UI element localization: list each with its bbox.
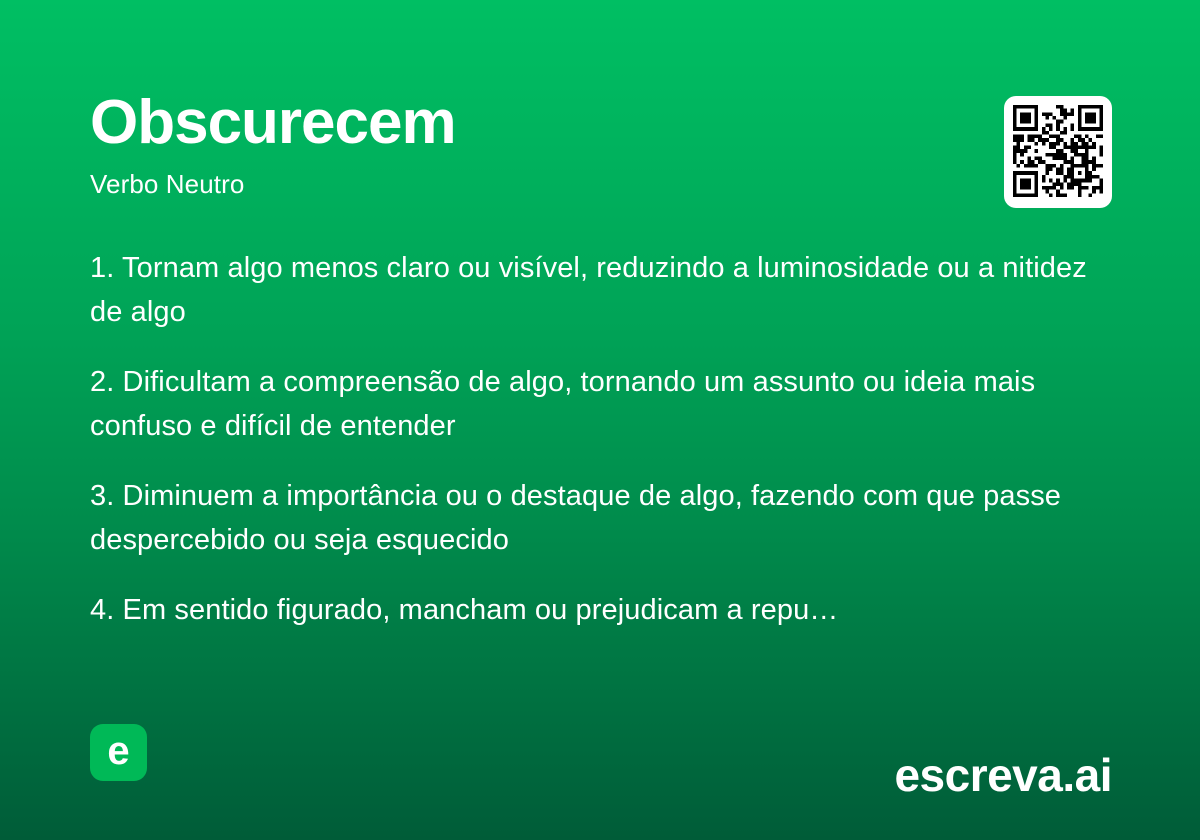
brand-name: escreva.ai: [894, 752, 1112, 798]
part-of-speech-label: Verbo Neutro: [90, 170, 950, 199]
logo-letter: e: [90, 724, 147, 781]
logo: e: [90, 724, 147, 781]
page-title: Obscurecem: [90, 92, 950, 154]
definition-item: 1. Tornam algo menos claro ou visível, r…: [90, 246, 1090, 334]
qr-code[interactable]: [1004, 96, 1112, 208]
definition-item: 3. Diminuem a importância ou o destaque …: [90, 474, 1090, 562]
dictionary-card: Obscurecem Verbo Neutro 1. Tornam algo m…: [0, 0, 1200, 840]
definition-item: 2. Dificultam a compreensão de algo, tor…: [90, 360, 1090, 448]
card-header: Obscurecem Verbo Neutro: [90, 92, 950, 199]
qr-code-icon: [1013, 105, 1103, 197]
definition-item: 4. Em sentido figurado, mancham ou preju…: [90, 588, 1090, 632]
definition-list: 1. Tornam algo menos claro ou visível, r…: [90, 246, 1090, 632]
